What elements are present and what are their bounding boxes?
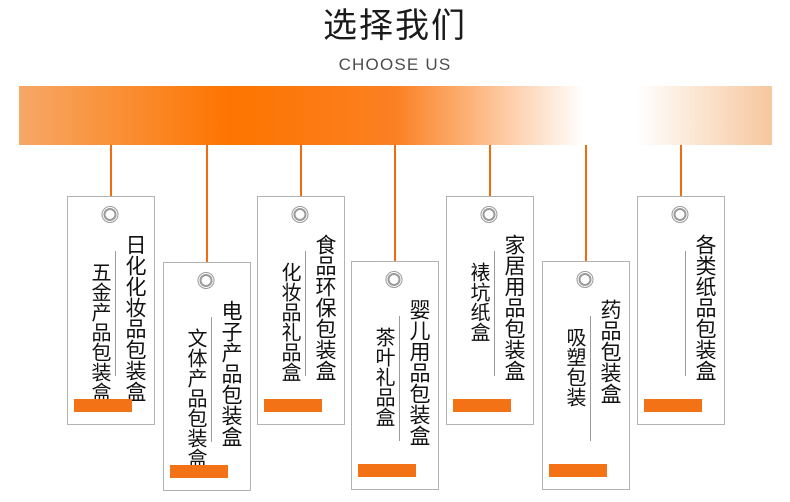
card-main-label: 电子产品包装盒 [220, 300, 241, 447]
card-main-label: 婴儿用品包装盒 [408, 299, 429, 446]
card-sub-label: 化妆品礼品盒 [280, 262, 300, 382]
card-main-label: 各类纸品包装盒 [694, 234, 715, 381]
category-card[interactable]: 各类纸品包装盒 [637, 196, 725, 425]
card-accent-bar [453, 399, 511, 412]
category-card[interactable]: 家居用品包装盒裱坑纸盒 [446, 196, 534, 425]
ring-icon [577, 271, 596, 290]
ring-icon [198, 272, 217, 291]
ring-icon [292, 206, 311, 225]
card-divider [115, 251, 116, 376]
category-card[interactable]: 婴儿用品包装盒茶叶礼品盒 [351, 261, 439, 490]
card-divider [590, 316, 591, 441]
connector-stem [394, 145, 396, 270]
page-title-zh: 选择我们 [0, 4, 790, 48]
ring-icon [672, 206, 691, 225]
ring-icon [481, 206, 500, 225]
card-accent-bar [74, 399, 132, 412]
infographic-canvas: 选择我们 CHOOSE US 日化化妆品包装盒五金产品包装盒电子产品包装盒文体产… [0, 0, 790, 502]
ring-inner-circle [388, 273, 401, 286]
ring-inner-circle [200, 274, 213, 287]
card-divider [399, 316, 400, 441]
card-accent-bar [264, 399, 322, 412]
category-card[interactable]: 日化化妆品包装盒五金产品包装盒 [67, 196, 155, 425]
card-divider [685, 251, 686, 376]
category-card[interactable]: 药品包装盒吸塑包装 [542, 261, 630, 490]
ring-inner-circle [674, 208, 687, 221]
card-accent-bar [644, 399, 702, 412]
ring-inner-circle [104, 208, 117, 221]
card-main-label: 药品包装盒 [599, 299, 620, 404]
category-card[interactable]: 食品环保包装盒化妆品礼品盒 [257, 196, 345, 425]
card-sub-label: 吸塑包装 [565, 327, 585, 407]
card-divider [494, 251, 495, 376]
ring-inner-circle [483, 208, 496, 221]
category-card[interactable]: 电子产品包装盒文体产品包装盒 [163, 262, 251, 491]
card-accent-bar [549, 464, 607, 477]
card-main-label: 食品环保包装盒 [314, 234, 335, 381]
card-sub-label: 茶叶礼品盒 [374, 327, 394, 427]
ring-icon [386, 271, 405, 290]
card-sub-label: 裱坑纸盒 [469, 262, 489, 342]
connector-stem [585, 145, 587, 270]
page-title-en: CHOOSE US [0, 54, 790, 76]
connector-stem [206, 145, 208, 271]
card-main-label: 日化化妆品包装盒 [124, 234, 145, 402]
card-accent-bar [170, 465, 228, 478]
card-main-label: 家居用品包装盒 [503, 234, 524, 381]
ring-inner-circle [294, 208, 307, 221]
card-divider [211, 317, 212, 442]
ring-inner-circle [579, 273, 592, 286]
ring-icon [102, 206, 121, 225]
card-divider [305, 251, 306, 376]
card-sub-label: 文体产品包装盒 [186, 328, 206, 468]
card-accent-bar [358, 464, 416, 477]
card-sub-label: 五金产品包装盒 [90, 262, 110, 402]
gradient-band [19, 86, 772, 145]
